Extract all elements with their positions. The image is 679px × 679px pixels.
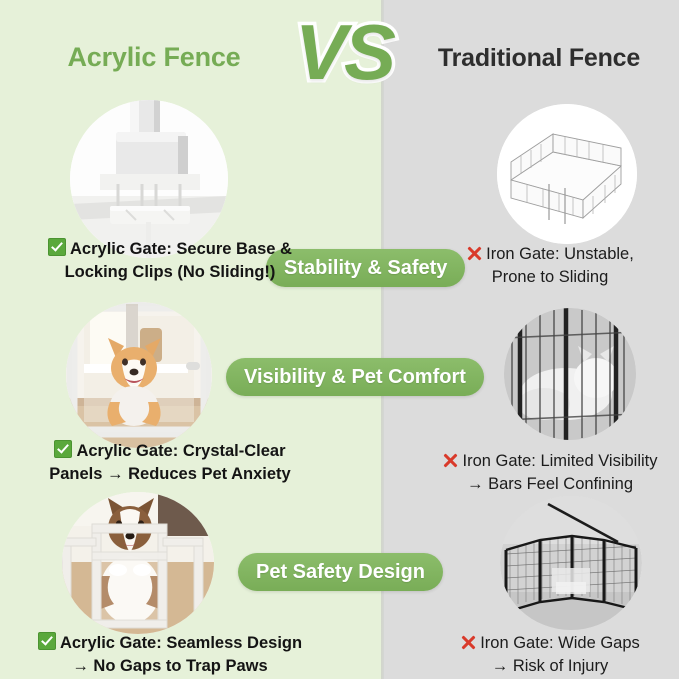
row-3-left-caption: Acrylic Gate: Seamless Design → No Gaps … [0, 632, 340, 678]
black-wire-playpen-photo [500, 496, 642, 630]
check-icon [48, 238, 66, 256]
right-column-title: Traditional Fence [410, 44, 668, 73]
row-3-feature-badge: Pet Safety Design [238, 553, 443, 591]
header: Acrylic Fence VS Traditional Fence [0, 0, 679, 100]
cross-icon [466, 245, 482, 261]
row-2-feature-badge: Visibility & Pet Comfort [226, 358, 484, 396]
left-column-title: Acrylic Fence [24, 42, 284, 73]
row-2-left-caption-text: Acrylic Gate: Crystal-Clear Panels → Red… [49, 442, 290, 483]
dog-behind-iron-bars-photo [504, 308, 636, 440]
row-3-right-caption-text: Iron Gate: Wide Gaps → Risk of Injury [480, 634, 640, 675]
row-1-left-caption: Acrylic Gate: Secure Base & Locking Clip… [0, 238, 340, 284]
row-1-right-caption-text: Iron Gate: Unstable, Prone to Sliding [486, 245, 634, 286]
row-1-left-caption-text: Acrylic Gate: Secure Base & Locking Clip… [65, 240, 292, 281]
vs-label: VS [283, 4, 405, 100]
cross-icon [442, 452, 458, 468]
wire-playpen-enclosure-photo [497, 104, 637, 244]
acrylic-gate-base-clips-photo [70, 100, 228, 258]
collie-behind-white-gate-photo [62, 492, 214, 634]
cross-icon [460, 634, 476, 650]
check-icon [38, 632, 56, 650]
check-icon [54, 440, 72, 458]
row-3-right-caption: Iron Gate: Wide Gaps → Risk of Injury [425, 632, 675, 678]
row-2-left-caption: Acrylic Gate: Crystal-Clear Panels → Red… [0, 440, 340, 486]
row-1-right-caption: Iron Gate: Unstable, Prone to Sliding [425, 243, 675, 289]
comparison-infographic: Acrylic Fence VS Traditional Fence [0, 0, 679, 679]
corgi-behind-clear-gate-photo [66, 302, 212, 448]
row-3-left-caption-text: Acrylic Gate: Seamless Design → No Gaps … [60, 634, 302, 675]
row-2-right-caption-text: Iron Gate: Limited Visibility → Bars Fee… [462, 452, 657, 493]
